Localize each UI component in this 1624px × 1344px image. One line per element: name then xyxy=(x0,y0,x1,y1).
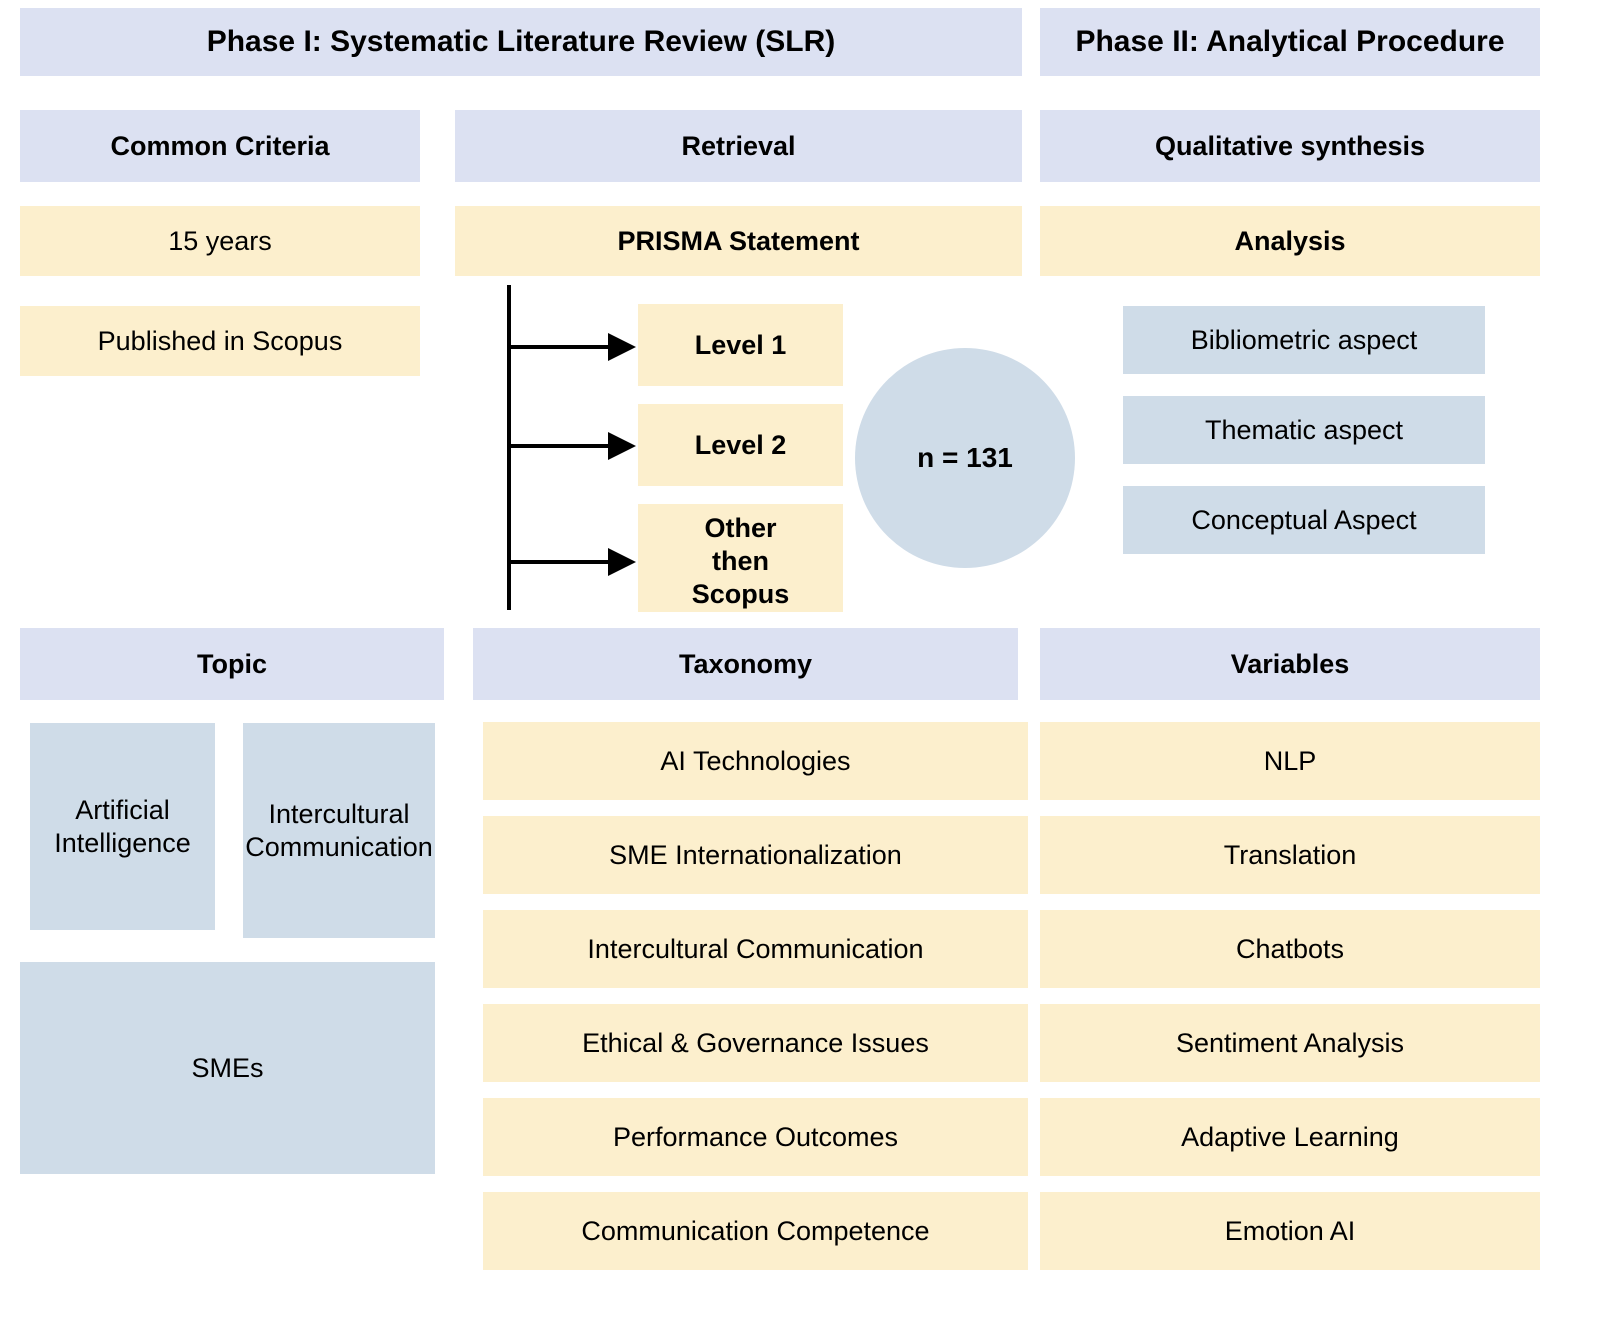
variables-item: Chatbots xyxy=(1040,910,1540,988)
retrieval-header: Retrieval xyxy=(455,110,1022,182)
taxonomy-item: Ethical & Governance Issues xyxy=(483,1004,1028,1082)
prisma-statement-box: PRISMA Statement xyxy=(455,206,1022,276)
taxonomy-item: Performance Outcomes xyxy=(483,1098,1028,1176)
analysis-aspect-label: Thematic aspect xyxy=(1205,414,1403,447)
taxonomy-header-label: Taxonomy xyxy=(679,648,812,681)
retrieval-header-label: Retrieval xyxy=(681,130,795,163)
prisma-levels-group: Level 1 Level 2 Other then Scopus xyxy=(455,276,1055,612)
taxonomy-item: Intercultural Communication xyxy=(483,910,1028,988)
variables-header-label: Variables xyxy=(1231,648,1350,681)
prisma-level-2-box: Level 2 xyxy=(638,404,843,486)
variables-item-label: Chatbots xyxy=(1236,933,1344,966)
phase-2-header-label: Phase II: Analytical Procedure xyxy=(1075,24,1504,61)
taxonomy-header: Taxonomy xyxy=(473,628,1018,700)
prisma-statement-label: PRISMA Statement xyxy=(617,225,859,258)
prisma-level-label: Level 1 xyxy=(695,329,787,362)
variables-header: Variables xyxy=(1040,628,1540,700)
prisma-level-other-box: Other then Scopus xyxy=(638,504,843,612)
topic-item-label: Intercultural Communication xyxy=(245,798,433,864)
taxonomy-item-label: Intercultural Communication xyxy=(587,933,923,966)
topic-header: Topic xyxy=(20,628,444,700)
variables-item-label: NLP xyxy=(1264,745,1317,778)
analysis-aspect-label: Conceptual Aspect xyxy=(1191,504,1416,537)
prisma-level-label: Other then Scopus xyxy=(692,512,790,611)
taxonomy-item-label: AI Technologies xyxy=(660,745,850,778)
variables-item: Sentiment Analysis xyxy=(1040,1004,1540,1082)
topic-item-artificial-intelligence: Artificial Intelligence xyxy=(30,723,215,930)
common-criteria-item-label: Published in Scopus xyxy=(98,325,343,358)
variables-item-label: Translation xyxy=(1224,839,1357,872)
variables-item: Emotion AI xyxy=(1040,1192,1540,1270)
topic-item-smes: SMEs xyxy=(20,962,435,1174)
taxonomy-item: AI Technologies xyxy=(483,722,1028,800)
qualitative-synthesis-header-label: Qualitative synthesis xyxy=(1155,130,1425,163)
taxonomy-item-label: Performance Outcomes xyxy=(613,1121,898,1154)
taxonomy-item-label: Communication Competence xyxy=(581,1215,929,1248)
prisma-level-label: Level 2 xyxy=(695,429,787,462)
taxonomy-item: SME Internationalization xyxy=(483,816,1028,894)
analysis-aspect-conceptual: Conceptual Aspect xyxy=(1123,486,1485,554)
taxonomy-item-label: SME Internationalization xyxy=(609,839,902,872)
common-criteria-item-published-in-scopus: Published in Scopus xyxy=(20,306,420,376)
common-criteria-item-label: 15 years xyxy=(168,225,272,258)
analysis-aspect-thematic: Thematic aspect xyxy=(1123,396,1485,464)
variables-item: Translation xyxy=(1040,816,1540,894)
analysis-aspect-label: Bibliometric aspect xyxy=(1191,324,1418,357)
analysis-label: Analysis xyxy=(1234,225,1345,258)
taxonomy-item: Communication Competence xyxy=(483,1192,1028,1270)
framework-diagram: Phase I: Systematic Literature Review (S… xyxy=(0,0,1624,1344)
prisma-level-1-box: Level 1 xyxy=(638,304,843,386)
phase-1-header-label: Phase I: Systematic Literature Review (S… xyxy=(207,24,836,61)
common-criteria-item-15-years: 15 years xyxy=(20,206,420,276)
topic-header-label: Topic xyxy=(197,648,267,681)
topic-item-label: SMEs xyxy=(191,1052,263,1085)
topic-item-label: Artificial Intelligence xyxy=(36,794,209,860)
common-criteria-header: Common Criteria xyxy=(20,110,420,182)
variables-item-label: Emotion AI xyxy=(1225,1215,1356,1248)
phase-1-header: Phase I: Systematic Literature Review (S… xyxy=(20,8,1022,76)
qualitative-synthesis-header: Qualitative synthesis xyxy=(1040,110,1540,182)
taxonomy-item-label: Ethical & Governance Issues xyxy=(582,1027,929,1060)
analysis-box: Analysis xyxy=(1040,206,1540,276)
phase-2-header: Phase II: Analytical Procedure xyxy=(1040,8,1540,76)
variables-item-label: Adaptive Learning xyxy=(1181,1121,1399,1154)
variables-item: Adaptive Learning xyxy=(1040,1098,1540,1176)
variables-item: NLP xyxy=(1040,722,1540,800)
topic-item-intercultural-communication: Intercultural Communication xyxy=(243,723,435,938)
variables-item-label: Sentiment Analysis xyxy=(1176,1027,1404,1060)
common-criteria-header-label: Common Criteria xyxy=(110,130,329,163)
analysis-aspect-bibliometric: Bibliometric aspect xyxy=(1123,306,1485,374)
